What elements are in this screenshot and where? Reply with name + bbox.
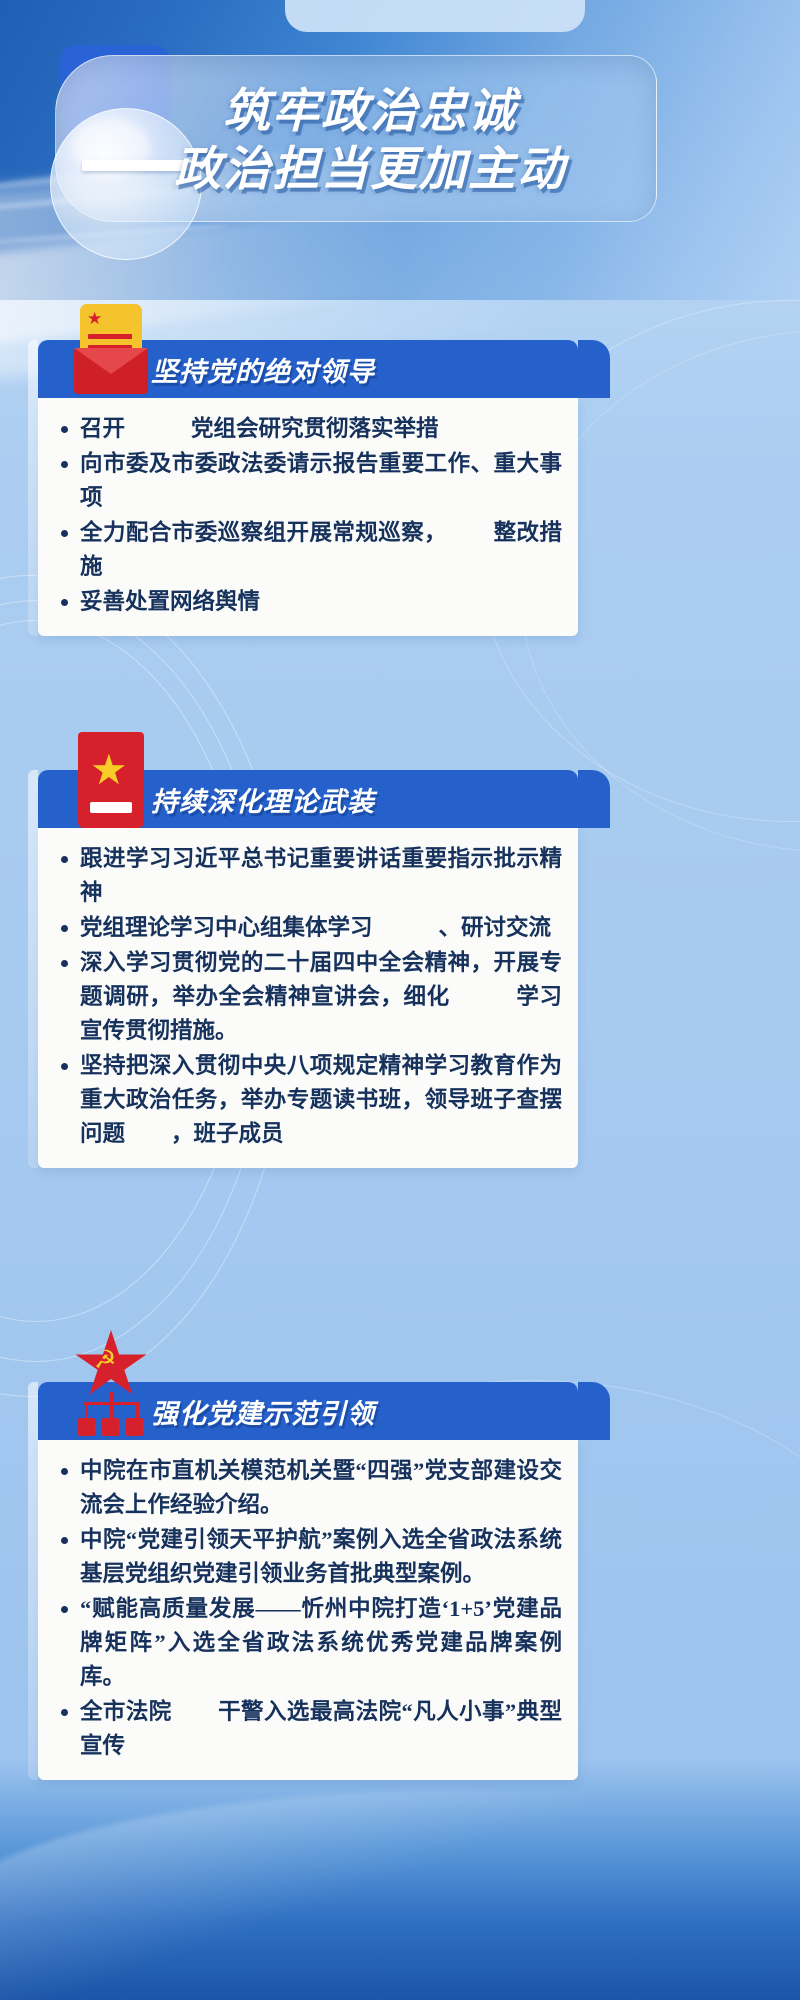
- bullet-text-pre: 跟进学习习近平总书记重要讲话重要指示批示精神: [80, 846, 562, 905]
- book-band: [90, 802, 132, 813]
- pedestal-post: [110, 1392, 113, 1418]
- section-header-band[interactable]: ★ 坚持党的绝对领导: [38, 340, 578, 398]
- bullet-text-pre: 坚持把深入贯彻中央八项规定精神学习教育作为重大政治任务，举办专题读书班，领导班子…: [80, 1053, 562, 1146]
- section-title: 持续深化理论武装: [151, 780, 375, 819]
- red-star-hammer-sickle-icon: ☭: [68, 1330, 154, 1442]
- section-body: 中院在市直机关模范机关暨“四强”党支部建设交流会上作经验介绍。 中院“党建引领天…: [38, 1440, 578, 1780]
- pedestal-beam: [84, 1402, 140, 1405]
- poster-title: 筑牢政治忠诚 政治担当更加主动: [110, 82, 630, 198]
- bullet-text-pre: “赋能高质量发展——忻州中院打造‘1+5’党建品牌矩阵”入选全省政法系统优秀党建…: [80, 1596, 562, 1689]
- section-party-building-demo: ☭ 强化党建示范引领 中院在市直机关模范机关暨“四强”党支部建设交流会上作经验介…: [38, 1382, 578, 1780]
- list-item: 中院在市直机关模范机关暨“四强”党支部建设交流会上作经验介绍。: [80, 1454, 562, 1522]
- bullet-text-pre: 向市委及市委政法委请示报告重要工作、重大事项: [80, 451, 562, 510]
- section-left-bar: [28, 340, 38, 636]
- page-title-line-2: 政治担当更加主动: [110, 140, 630, 198]
- list-item: 坚持把深入贯彻中央八项规定精神学习教育作为重大政治任务，举办专题读书班，领导班子…: [80, 1049, 562, 1151]
- bullet-text-pre: 全市法院: [80, 1699, 172, 1724]
- red-envelope-document-icon: ★: [74, 304, 146, 400]
- bullet-list: 中院在市直机关模范机关暨“四强”党支部建设交流会上作经验介绍。 中院“党建引领天…: [54, 1454, 562, 1763]
- section-body: 召开党组会研究贯彻落实举措 向市委及市委政法委请示报告重要工作、重大事项 全力配…: [38, 398, 578, 636]
- section-body: 跟进学习习近平总书记重要讲话重要指示批示精神 党组理论学习中心组集体学习、研讨交…: [38, 828, 578, 1168]
- bullet-text-post: 党组会研究贯彻落实举措: [191, 416, 439, 441]
- bullet-text-pre: 召开: [80, 416, 125, 441]
- list-item: 妥善处置网络舆情: [80, 585, 562, 619]
- section-theory-armament: ★ 持续深化理论武装 跟进学习习近平总书记重要讲话重要指示批示精神 党组理论学习…: [38, 770, 578, 1168]
- bullet-text-pre: 党组理论学习中心组集体学习: [80, 915, 373, 940]
- envelope-flap: [74, 348, 148, 374]
- page-title-line-1: 筑牢政治忠诚: [110, 82, 630, 140]
- top-pill-shape: [285, 0, 585, 32]
- list-item: 全力配合市委巡察组开展常规巡察，整改措施: [80, 516, 562, 584]
- hammer-sickle-glyph: ☭: [94, 1348, 116, 1373]
- bullet-text-post: 、研讨交流: [439, 915, 552, 940]
- section-party-leadership: ★ 坚持党的绝对领导 召开党组会研究贯彻落实举措 向市委及市委政法委请示报告重要…: [38, 340, 578, 636]
- bullet-text-pre: 深入学习贯彻党的二十届四中全会精神，开展专题调研，举办全会精神宣讲会，细化: [80, 950, 562, 1009]
- list-item: 召开党组会研究贯彻落实举措: [80, 412, 562, 446]
- star-glyph: ★: [87, 310, 102, 327]
- list-item: 党组理论学习中心组集体学习、研讨交流: [80, 911, 562, 945]
- section-header-band[interactable]: ☭ 强化党建示范引领: [38, 1382, 578, 1440]
- bullet-text-post: ，班子成员: [171, 1121, 284, 1146]
- bullet-text-pre: 妥善处置网络舆情: [80, 589, 260, 614]
- bullet-text-pre: 中院在市直机关模范机关暨“四强”党支部建设交流会上作经验介绍。: [80, 1458, 562, 1517]
- list-item: 深入学习贯彻党的二十届四中全会精神，开展专题调研，举办全会精神宣讲会，细化学习宣…: [80, 946, 562, 1048]
- pedestal-block: [78, 1418, 95, 1436]
- bullet-text-pre: 中院“党建引领天平护航”案例入选全省政法系统基层党组织党建引领业务首批典型案例。: [80, 1527, 562, 1586]
- bullet-text-pre: 全力配合市委巡察组开展常规巡察，: [80, 520, 447, 545]
- list-item: 中院“党建引领天平护航”案例入选全省政法系统基层党组织党建引领业务首批典型案例。: [80, 1523, 562, 1591]
- section-title: 强化党建示范引领: [151, 1392, 375, 1431]
- bullet-list: 召开党组会研究贯彻落实举措 向市委及市委政法委请示报告重要工作、重大事项 全力配…: [54, 412, 562, 619]
- pedestal-block: [126, 1418, 143, 1436]
- section-left-bar: [28, 770, 38, 1168]
- red-book-star-icon: ★: [78, 732, 144, 832]
- section-title: 坚持党的绝对领导: [151, 350, 375, 389]
- note-line: [88, 334, 132, 339]
- list-item: “赋能高质量发展——忻州中院打造‘1+5’党建品牌矩阵”入选全省政法系统优秀党建…: [80, 1592, 562, 1694]
- list-item: 全市法院干警入选最高法院“凡人小事”典型宣传: [80, 1695, 562, 1763]
- section-header-band[interactable]: ★ 持续深化理论武装: [38, 770, 578, 828]
- list-item: 向市委及市委政法委请示报告重要工作、重大事项: [80, 447, 562, 515]
- pedestal-block: [102, 1418, 119, 1436]
- list-item: 跟进学习习近平总书记重要讲话重要指示批示精神: [80, 842, 562, 910]
- section-left-bar: [28, 1382, 38, 1780]
- bullet-list: 跟进学习习近平总书记重要讲话重要指示批示精神 党组理论学习中心组集体学习、研讨交…: [54, 842, 562, 1151]
- star-glyph: ★: [90, 750, 128, 792]
